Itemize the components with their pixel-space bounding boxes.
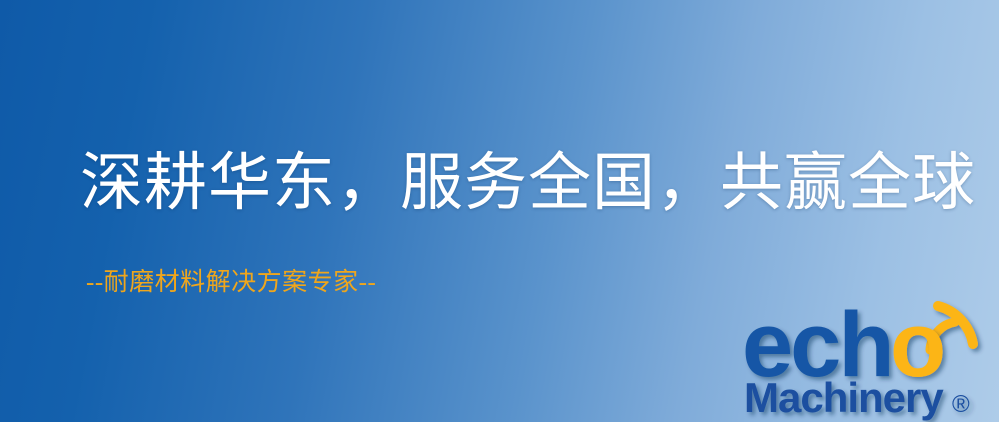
banner-headline: 深耕华东，服务全国，共赢全球 <box>80 148 976 219</box>
banner-subheadline: --耐磨材料解决方案专家-- <box>86 268 376 298</box>
logo-tagline-machinery: Machinery <box>744 374 944 421</box>
logo-registered-mark: ® <box>952 391 970 418</box>
echo-machinery-logo: ech o Machinery ® <box>742 292 994 418</box>
promotional-banner: 深耕华东，服务全国，共赢全球 --耐磨材料解决方案专家-- ech o Mach… <box>0 0 999 422</box>
